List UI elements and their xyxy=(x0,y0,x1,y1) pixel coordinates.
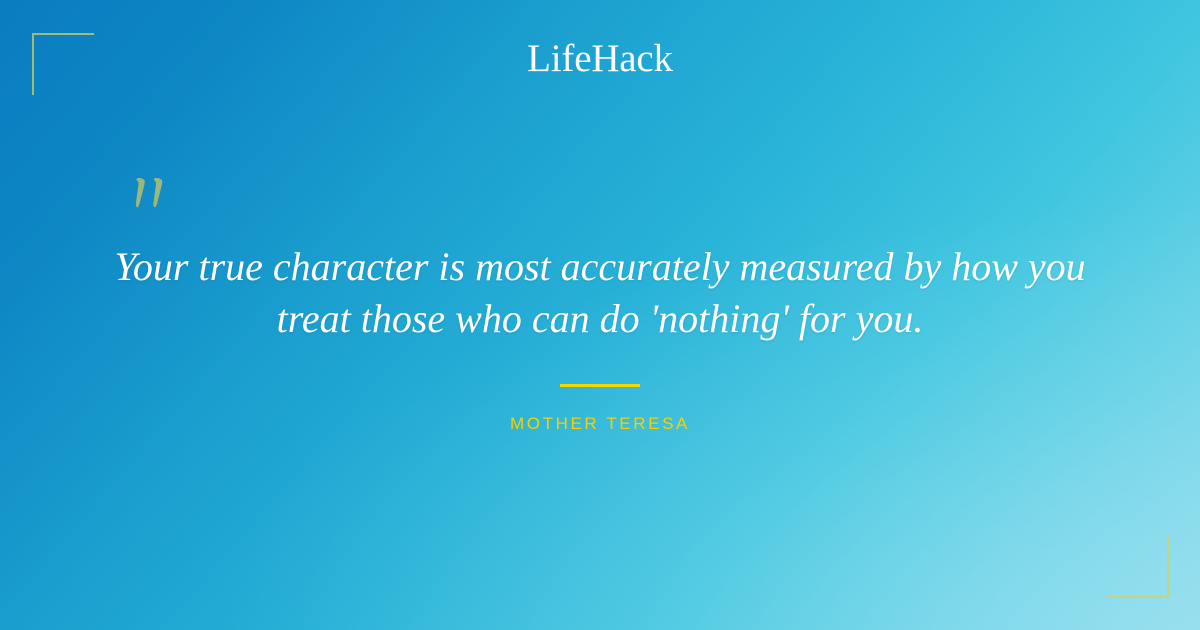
quote-line-1: Your true character is most accurately m… xyxy=(80,241,1120,293)
double-quote-icon xyxy=(124,146,184,216)
attribution-divider xyxy=(560,384,640,387)
quote-card: LifeHack Your true character is most acc… xyxy=(0,0,1200,630)
attribution-author: MOTHER TERESA xyxy=(0,414,1200,434)
corner-bracket-icon-bottom-right xyxy=(1107,536,1169,598)
brand-logo: LifeHack xyxy=(0,39,1200,80)
quote-text: Your true character is most accurately m… xyxy=(80,241,1120,345)
quote-line-2: treat those who can do 'nothing' for you… xyxy=(80,293,1120,345)
